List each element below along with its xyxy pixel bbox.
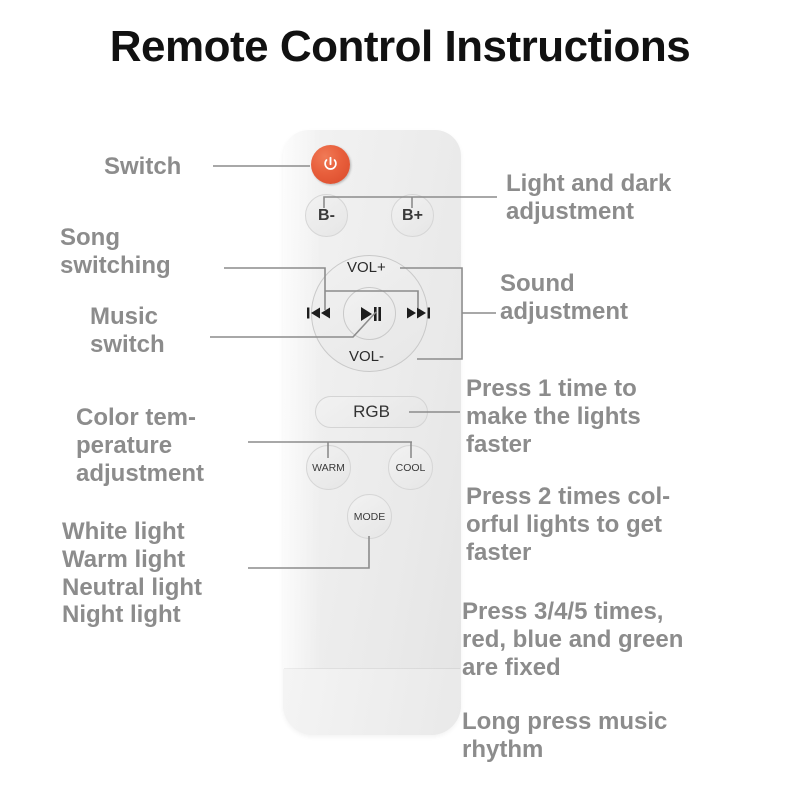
brightness-down-button[interactable]: B-	[305, 194, 348, 237]
volume-down-label[interactable]: VOL-	[349, 348, 384, 365]
callout-light-modes: White light Warm light Neutral light Nig…	[62, 518, 202, 629]
callout-light-dark: Light and dark adjustment	[506, 170, 671, 226]
volume-up-label[interactable]: VOL+	[347, 259, 386, 276]
callout-press-2: Press 2 times col- orful lights to get f…	[466, 483, 670, 566]
cool-button[interactable]: COOL	[388, 445, 433, 490]
power-button[interactable]	[311, 145, 350, 184]
callout-music-switch: Music switch	[90, 303, 165, 359]
power-icon	[322, 156, 339, 173]
previous-track-icon	[306, 305, 332, 321]
callout-color-temperature: Color tem- perature adjustment	[76, 404, 204, 487]
brightness-up-button[interactable]: B+	[391, 194, 434, 237]
callout-long-press: Long press music rhythm	[462, 708, 667, 764]
callout-sound: Sound adjustment	[500, 270, 628, 326]
warm-label: WARM	[312, 462, 345, 474]
brightness-up-label: B+	[402, 207, 423, 225]
brightness-down-label: B-	[318, 207, 335, 225]
callout-song-switching: Song switching	[60, 224, 171, 280]
warm-button[interactable]: WARM	[306, 445, 351, 490]
play-pause-icon	[355, 304, 385, 324]
rgb-button[interactable]: RGB	[315, 396, 428, 428]
next-track-icon	[405, 305, 431, 321]
instruction-diagram: Remote Control Instructions B- B+ VOL+ V…	[0, 0, 800, 800]
battery-cover	[283, 669, 461, 735]
play-pause-button[interactable]	[343, 287, 396, 340]
callout-press-345: Press 3/4/5 times, red, blue and green a…	[462, 598, 683, 681]
mode-label: MODE	[354, 511, 386, 523]
mode-button[interactable]: MODE	[347, 494, 392, 539]
cool-label: COOL	[396, 462, 426, 474]
callout-press-1: Press 1 time to make the lights faster	[466, 375, 641, 458]
next-track-button[interactable]	[405, 303, 431, 323]
callout-switch: Switch	[104, 153, 181, 181]
rgb-label: RGB	[353, 402, 390, 422]
page-title: Remote Control Instructions	[0, 22, 800, 72]
previous-track-button[interactable]	[306, 303, 332, 323]
